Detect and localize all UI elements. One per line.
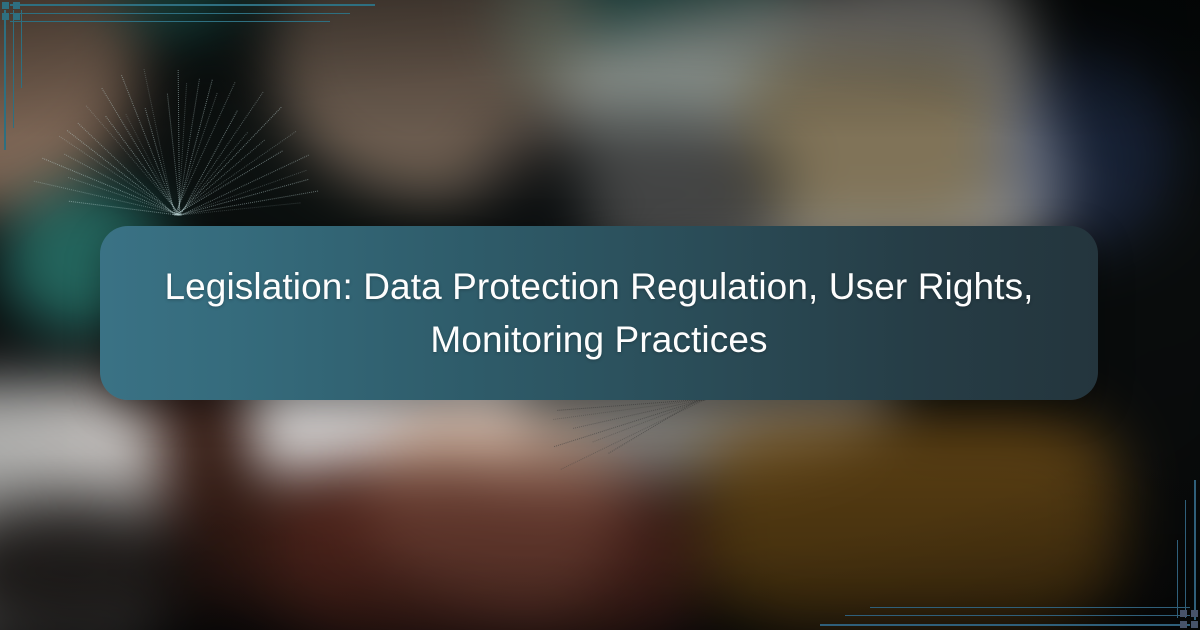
share-card-canvas: Legislation: Data Protection Regulation,… (0, 0, 1200, 630)
photo-shape-blue-right (995, 50, 1175, 250)
photo-shape-red-bottom (270, 470, 700, 630)
title-card: Legislation: Data Protection Regulation,… (100, 226, 1098, 400)
page-title: Legislation: Data Protection Regulation,… (149, 260, 1049, 366)
photo-shape-amber-bottom (700, 410, 1120, 630)
